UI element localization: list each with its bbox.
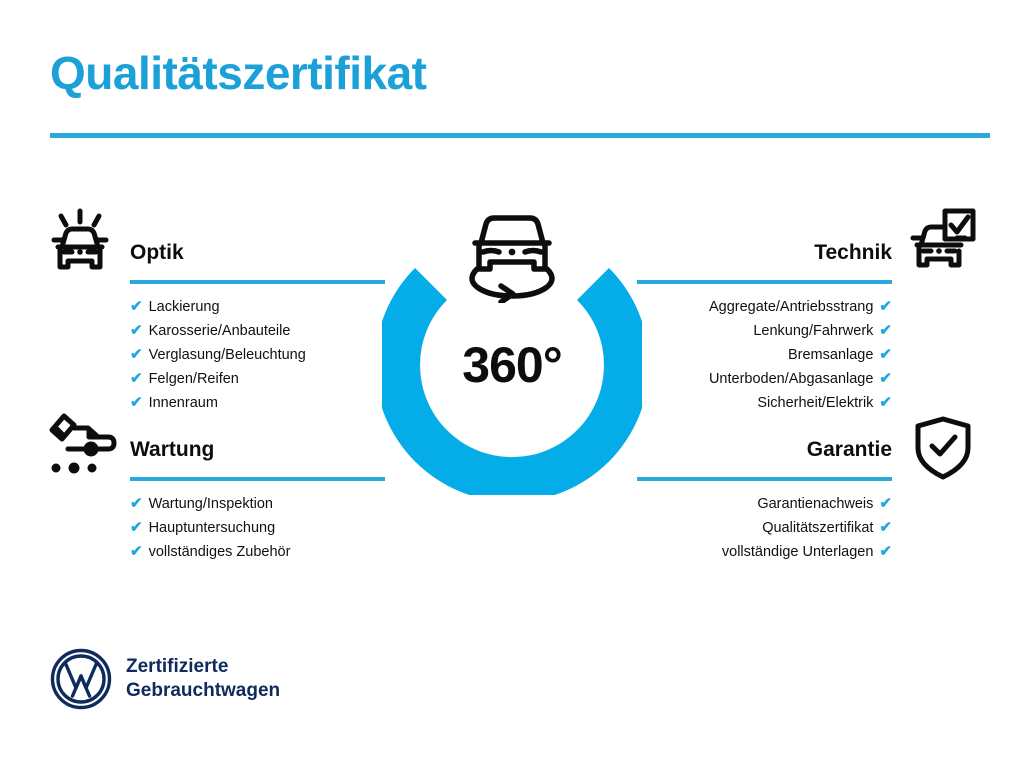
- footer-line-2: Gebrauchtwagen: [126, 679, 280, 703]
- check-icon: ✔: [879, 295, 892, 319]
- check-icon: ✔: [130, 516, 143, 540]
- check-icon: ✔: [130, 492, 143, 516]
- list-item-label: Verglasung/Beleuchtung: [149, 343, 306, 367]
- footer-logo: Zertifizierte Gebrauchtwagen: [50, 648, 280, 710]
- list-item: Sicherheit/Elektrik✔: [637, 391, 892, 415]
- section-technik-title: Technik: [637, 240, 892, 266]
- section-garantie-divider: [637, 477, 892, 481]
- list-item-label: Garantienachweis: [757, 492, 873, 516]
- list-item: ✔Verglasung/Beleuchtung: [130, 343, 385, 367]
- section-wartung: Wartung ✔Wartung/Inspektion ✔Hauptunters…: [130, 437, 385, 564]
- list-item-label: Lackierung: [149, 295, 220, 319]
- check-icon: ✔: [130, 295, 143, 319]
- list-item: Qualitätszertifikat✔: [637, 516, 892, 540]
- footer-line-1: Zertifizierte: [126, 655, 280, 679]
- check-icon: ✔: [130, 391, 143, 415]
- car-checkbox-icon: [905, 207, 977, 284]
- list-item-label: Lenkung/Fahrwerk: [753, 319, 873, 343]
- list-item-label: Sicherheit/Elektrik: [757, 391, 873, 415]
- section-technik-list: Aggregate/Antriebsstrang✔ Lenkung/Fahrwe…: [637, 295, 892, 415]
- check-icon: ✔: [879, 391, 892, 415]
- list-item-label: Felgen/Reifen: [149, 367, 239, 391]
- section-garantie-title: Garantie: [637, 437, 892, 463]
- list-item: ✔Lackierung: [130, 295, 385, 319]
- header-divider: [50, 133, 990, 138]
- list-item: ✔Wartung/Inspektion: [130, 492, 385, 516]
- list-item: Garantienachweis✔: [637, 492, 892, 516]
- section-wartung-header: Wartung: [130, 437, 385, 481]
- section-optik-list: ✔Lackierung ✔Karosserie/Anbauteile ✔Verg…: [130, 295, 385, 415]
- list-item: Lenkung/Fahrwerk✔: [637, 319, 892, 343]
- check-icon: ✔: [130, 540, 143, 564]
- section-wartung-divider: [130, 477, 385, 481]
- check-icon: ✔: [879, 319, 892, 343]
- vw-logo: [50, 648, 112, 710]
- list-item-label: Innenraum: [149, 391, 218, 415]
- shield-check-icon: [912, 415, 974, 486]
- check-icon: ✔: [130, 367, 143, 391]
- section-wartung-list: ✔Wartung/Inspektion ✔Hauptuntersuchung ✔…: [130, 492, 385, 564]
- list-item: Aggregate/Antriebsstrang✔: [637, 295, 892, 319]
- list-item: Unterboden/Abgasanlage✔: [637, 367, 892, 391]
- list-item-label: vollständiges Zubehör: [149, 540, 291, 564]
- list-item-label: Qualitätszertifikat: [762, 516, 873, 540]
- car-rotate-icon: [455, 207, 569, 303]
- check-icon: ✔: [879, 343, 892, 367]
- list-item-label: Karosserie/Anbauteile: [149, 319, 291, 343]
- section-garantie-header: Garantie: [637, 437, 892, 481]
- list-item: ✔Hauptuntersuchung: [130, 516, 385, 540]
- list-item: vollständige Unterlagen✔: [637, 540, 892, 564]
- section-technik-header: Technik: [637, 240, 892, 284]
- list-item-label: Aggregate/Antriebsstrang: [709, 295, 873, 319]
- section-technik-divider: [637, 280, 892, 284]
- footer-text: Zertifizierte Gebrauchtwagen: [126, 655, 280, 703]
- list-item-label: Bremsanlage: [788, 343, 873, 367]
- check-icon: ✔: [879, 540, 892, 564]
- check-icon: ✔: [879, 367, 892, 391]
- check-icon: ✔: [130, 343, 143, 367]
- section-wartung-title: Wartung: [130, 437, 385, 463]
- section-optik-divider: [130, 280, 385, 284]
- list-item: ✔Felgen/Reifen: [130, 367, 385, 391]
- section-optik: Optik ✔Lackierung ✔Karosserie/Anbauteile…: [130, 240, 385, 415]
- list-item: ✔vollständiges Zubehör: [130, 540, 385, 564]
- list-item: Bremsanlage✔: [637, 343, 892, 367]
- section-technik: Technik Aggregate/Antriebsstrang✔ Lenkun…: [637, 240, 892, 415]
- section-optik-title: Optik: [130, 240, 385, 266]
- section-optik-header: Optik: [130, 240, 385, 284]
- check-icon: ✔: [879, 516, 892, 540]
- section-garantie-list: Garantienachweis✔ Qualitätszertifikat✔ v…: [637, 492, 892, 564]
- list-item: ✔Karosserie/Anbauteile: [130, 319, 385, 343]
- 360-check-badge: Gebrauchtwagen-Check 360°: [382, 235, 642, 495]
- list-item-label: vollständige Unterlagen: [722, 540, 874, 564]
- page-title: Qualitätszertifikat: [50, 48, 427, 99]
- car-polish-icon: [44, 207, 116, 284]
- check-icon: ✔: [879, 492, 892, 516]
- list-item: ✔Innenraum: [130, 391, 385, 415]
- service-pencil-car-icon: [44, 410, 120, 485]
- check-icon: ✔: [130, 319, 143, 343]
- list-item-label: Unterboden/Abgasanlage: [709, 367, 873, 391]
- list-item-label: Hauptuntersuchung: [149, 516, 276, 540]
- section-garantie: Garantie Garantienachweis✔ Qualitätszert…: [637, 437, 892, 564]
- list-item-label: Wartung/Inspektion: [149, 492, 273, 516]
